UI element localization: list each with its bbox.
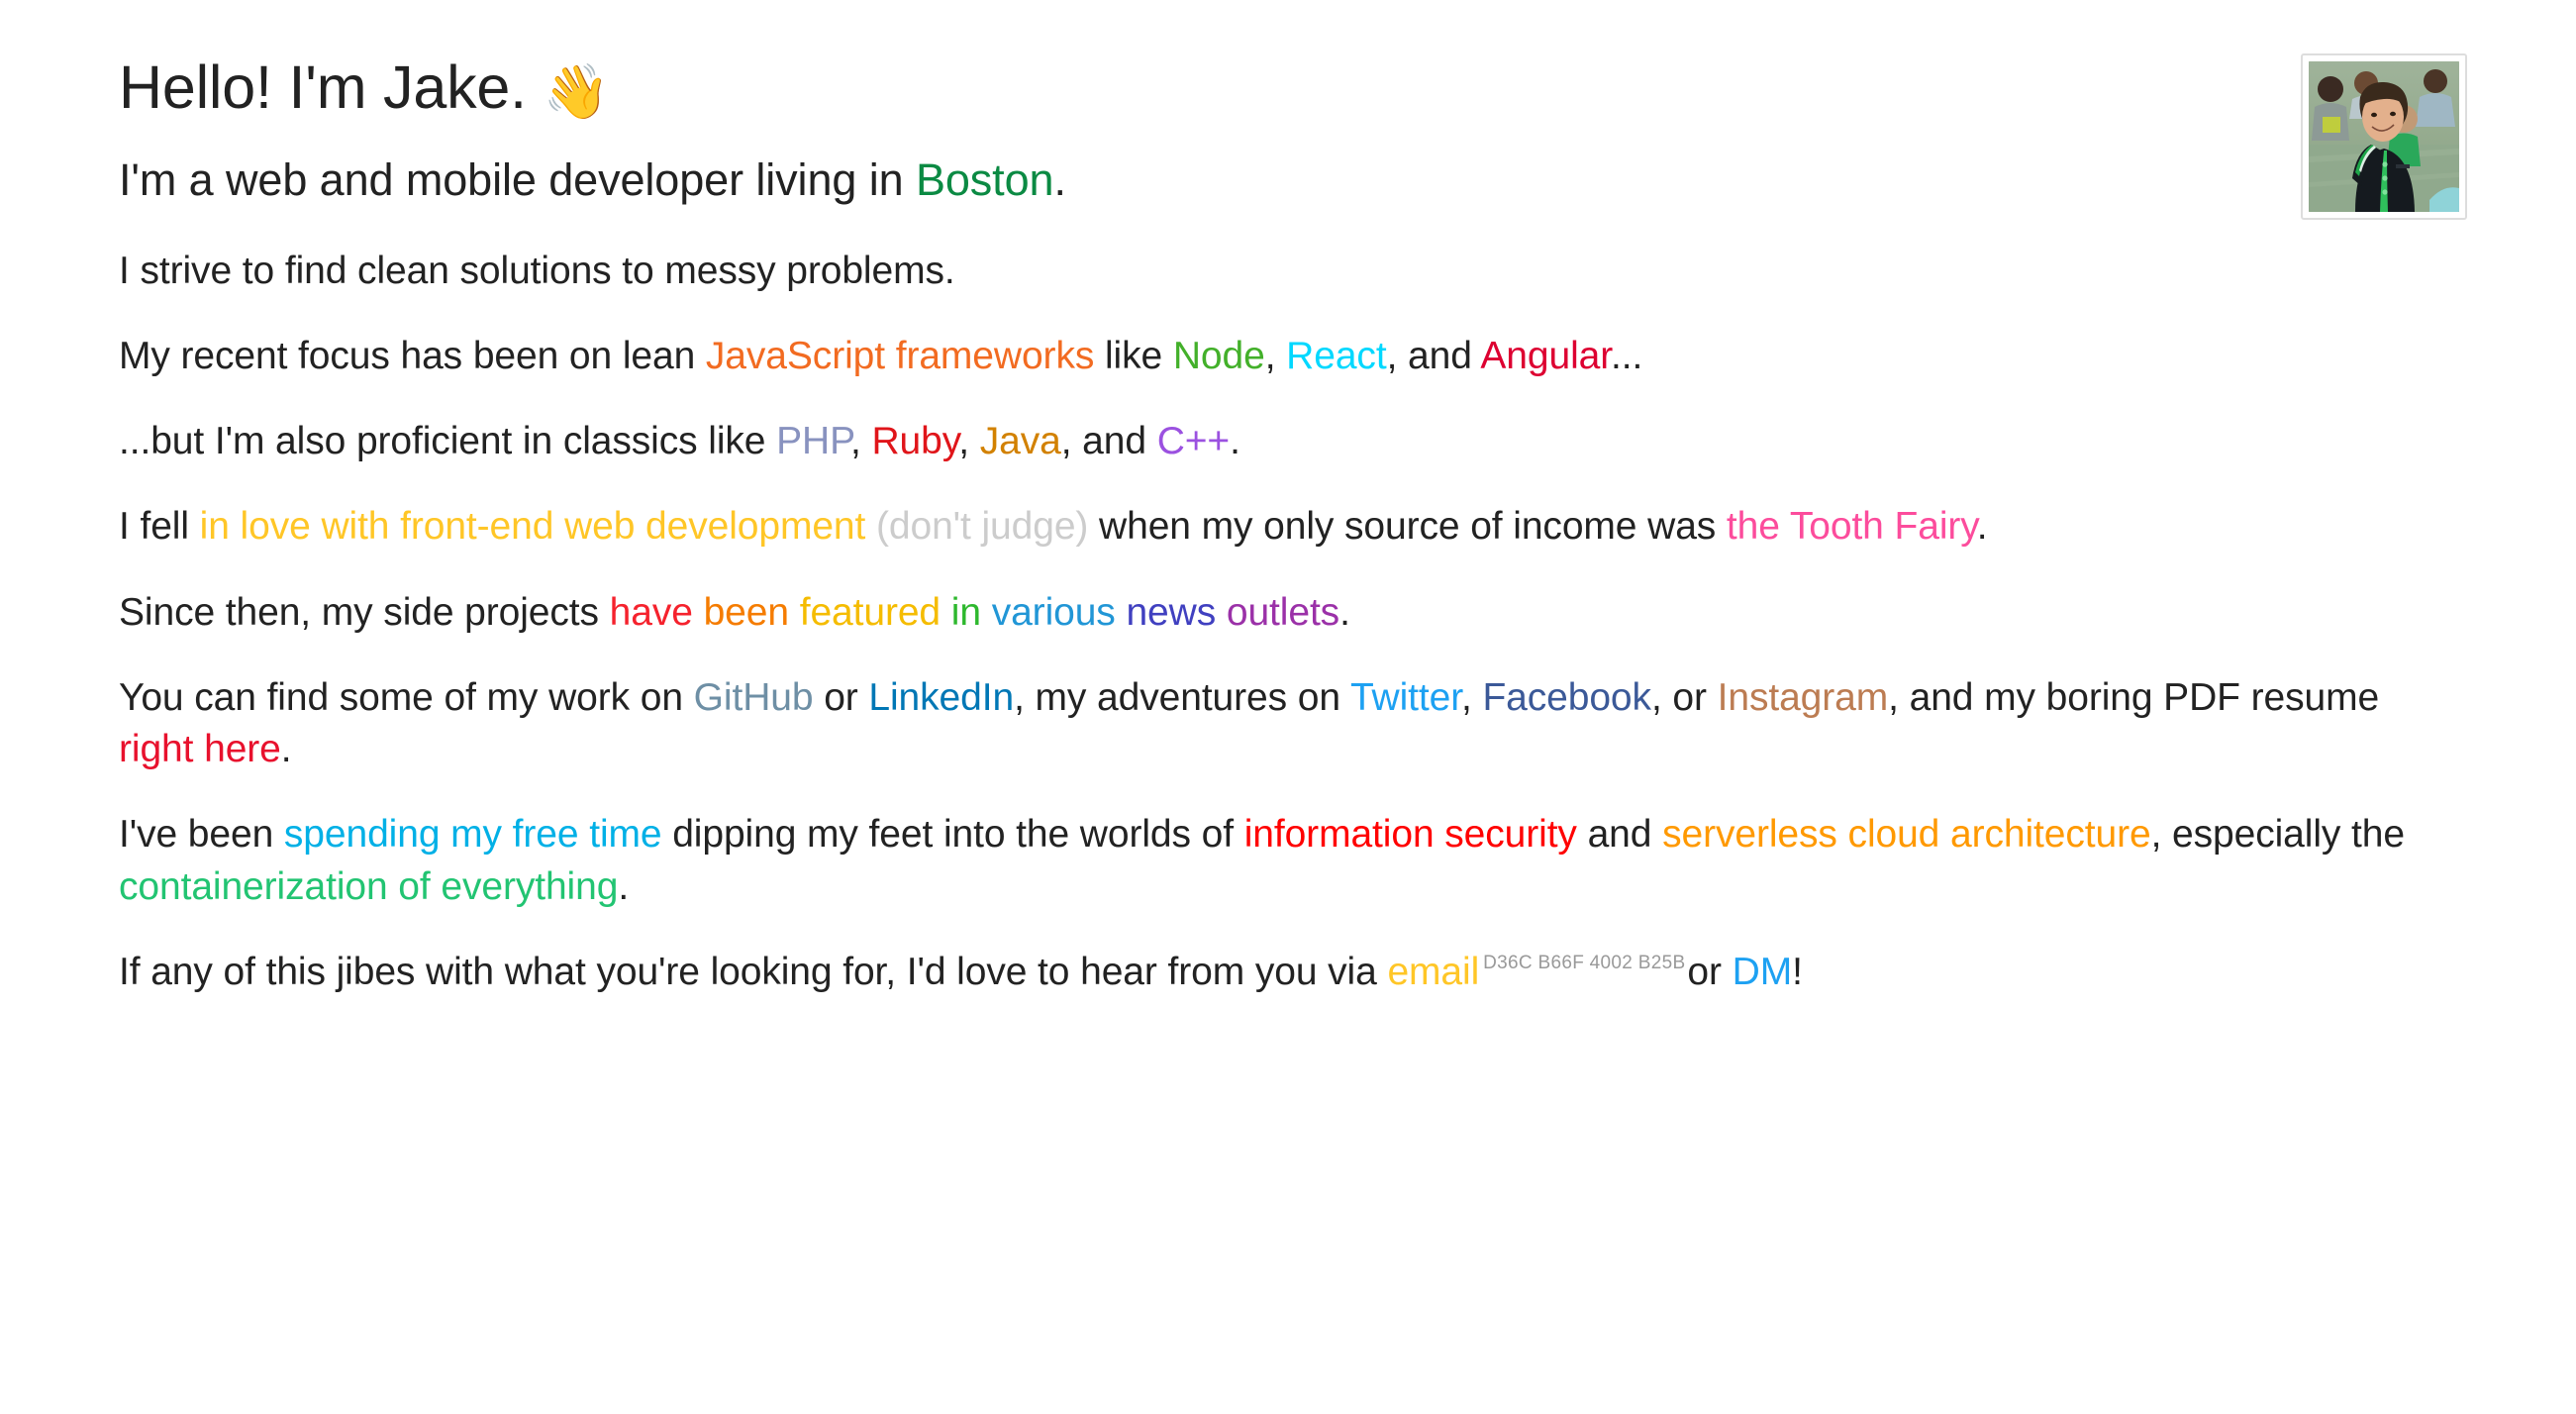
page-title: Hello! I'm Jake. 👋 — [119, 53, 2465, 121]
interests-line: I've been spending my free time dipping … — [119, 809, 2455, 913]
tooth-fairy-line: I fell in love with front-end web develo… — [119, 501, 2445, 553]
social-text-7: . — [281, 728, 292, 770]
link-information-security[interactable]: information security — [1244, 813, 1577, 856]
focus-text-1: My recent focus has been on lean — [119, 335, 706, 377]
featured-line: Since then, my side projects have been f… — [119, 587, 2445, 639]
classics-text-5: . — [1230, 420, 1240, 462]
featured-space-6 — [1216, 591, 1227, 634]
featured-space-3 — [941, 591, 951, 634]
link-php[interactable]: PHP — [776, 420, 850, 462]
profile-photo-image — [2309, 61, 2459, 212]
avatar — [2309, 61, 2459, 212]
featured-text-1: Since then, my side projects — [119, 591, 610, 634]
pgp-fingerprint: D36C B66F 4002 B25B — [1483, 953, 1685, 973]
featured-space-5 — [1116, 591, 1127, 634]
link-twitter[interactable]: Twitter — [1350, 676, 1461, 719]
social-line: You can find some of my work on GitHub o… — [119, 672, 2455, 776]
link-tooth-fairy[interactable]: the Tooth Fairy — [1727, 505, 1977, 548]
link-ruby[interactable]: Ruby — [871, 420, 958, 462]
classics-text-4: , and — [1061, 420, 1157, 462]
link-in[interactable]: in — [951, 591, 981, 634]
social-text-2: or — [813, 676, 868, 719]
link-dm[interactable]: DM — [1733, 951, 1792, 993]
link-email[interactable]: email — [1387, 951, 1479, 993]
classics-text-3: , — [958, 420, 979, 462]
fairy-text-3: . — [1977, 505, 1988, 548]
link-angular[interactable]: Angular — [1480, 335, 1611, 377]
interests-text-4: , especially the — [2151, 813, 2405, 856]
link-outlets[interactable]: outlets — [1227, 591, 1339, 634]
focus-text-4: , and — [1387, 335, 1481, 377]
link-serverless-cloud-architecture[interactable]: serverless cloud architecture — [1662, 813, 2150, 856]
focus-text-5: ... — [1611, 335, 1642, 377]
link-github[interactable]: GitHub — [694, 676, 814, 719]
bio-content: Hello! I'm Jake. 👋 I'm a web and mobile … — [119, 53, 2465, 998]
link-boston[interactable]: Boston — [916, 154, 1054, 205]
link-javascript-frameworks[interactable]: JavaScript frameworks — [706, 335, 1094, 377]
link-instagram[interactable]: Instagram — [1718, 676, 1889, 719]
intro-suffix: . — [1053, 154, 1065, 205]
link-front-end-love[interactable]: in love with front-end web development — [200, 505, 866, 548]
interests-text-3: and — [1577, 813, 1662, 856]
link-news[interactable]: news — [1126, 591, 1216, 634]
page-root: Hello! I'm Jake. 👋 I'm a web and mobile … — [0, 0, 2576, 1414]
classics-line: ...but I'm also proficient in classics l… — [119, 416, 2445, 467]
link-linkedin[interactable]: LinkedIn — [868, 676, 1014, 719]
link-have[interactable]: have — [610, 591, 693, 634]
fairy-text-2: when my only source of income was — [1088, 505, 1727, 548]
social-text-1: You can find some of my work on — [119, 676, 694, 719]
contact-line: If any of this jibes with what you're lo… — [119, 947, 2445, 998]
social-text-5: , or — [1651, 676, 1718, 719]
link-java[interactable]: Java — [980, 420, 1061, 462]
profile-photo-frame — [2301, 53, 2467, 220]
interests-text-5: . — [618, 865, 629, 908]
contact-text-1: If any of this jibes with what you're lo… — [119, 951, 1387, 993]
focus-text-2: like — [1094, 335, 1173, 377]
link-featured[interactable]: featured — [800, 591, 941, 634]
fairy-text-1: I fell — [119, 505, 200, 548]
featured-text-2: . — [1339, 591, 1350, 634]
social-text-6: , and my boring PDF resume — [1888, 676, 2379, 719]
focus-text-3: , — [1265, 335, 1286, 377]
link-free-time[interactable]: spending my free time — [284, 813, 662, 856]
focus-line: My recent focus has been on lean JavaScr… — [119, 331, 2445, 382]
classics-text-1: ...but I'm also proficient in classics l… — [119, 420, 776, 462]
link-been[interactable]: been — [704, 591, 789, 634]
contact-text-3: ! — [1792, 951, 1803, 993]
fairy-space-1 — [865, 505, 876, 548]
featured-space-2 — [789, 591, 800, 634]
featured-space-1 — [693, 591, 704, 634]
classics-text-2: , — [850, 420, 871, 462]
contact-text-2: or — [1687, 951, 1732, 993]
social-text-4: , — [1461, 676, 1482, 719]
featured-space-4 — [981, 591, 992, 634]
link-resume[interactable]: right here — [119, 728, 281, 770]
intro-prefix: I'm a web and mobile developer living in — [119, 154, 916, 205]
link-facebook[interactable]: Facebook — [1482, 676, 1650, 719]
strive-line: I strive to find clean solutions to mess… — [119, 246, 2445, 297]
link-various[interactable]: various — [992, 591, 1116, 634]
link-node[interactable]: Node — [1173, 335, 1265, 377]
link-containerization[interactable]: containerization of everything — [119, 865, 618, 908]
intro-line: I'm a web and mobile developer living in… — [119, 151, 2465, 209]
dont-judge-note: (don't judge) — [876, 505, 1088, 548]
interests-text-2: dipping my feet into the worlds of — [661, 813, 1243, 856]
page-title-text: Hello! I'm Jake. — [119, 53, 527, 121]
interests-text-1: I've been — [119, 813, 284, 856]
link-cpp[interactable]: C++ — [1157, 420, 1230, 462]
waving-hand-icon: 👋 — [544, 62, 610, 122]
social-text-3: , my adventures on — [1014, 676, 1350, 719]
link-react[interactable]: React — [1286, 335, 1386, 377]
